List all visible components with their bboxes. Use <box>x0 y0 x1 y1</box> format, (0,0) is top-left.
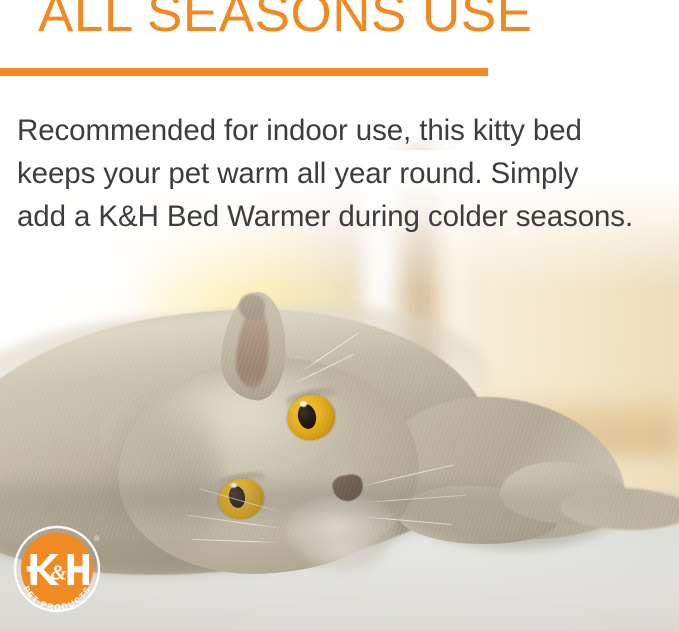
cat-contact-shadow <box>0 482 640 524</box>
body-copy: Recommended for indoor use, this kitty b… <box>17 109 679 238</box>
registered-trademark-symbol: ® <box>94 534 100 543</box>
product-feature-card: ALL SEASONS USE Recommended for indoor u… <box>0 0 679 631</box>
body-copy-line-1: Recommended for indoor use, this kitty b… <box>17 109 679 152</box>
body-copy-line-3: add a K&H Bed Warmer during colder seaso… <box>17 195 679 238</box>
page-title: ALL SEASONS USE <box>38 0 533 42</box>
title-divider-rule <box>0 68 488 76</box>
kh-pet-products-logo: & ® PET PRODUCTS <box>12 521 108 621</box>
svg-text:&: & <box>50 561 67 585</box>
body-copy-line-2: keeps your pet warm all year round. Simp… <box>17 152 679 195</box>
